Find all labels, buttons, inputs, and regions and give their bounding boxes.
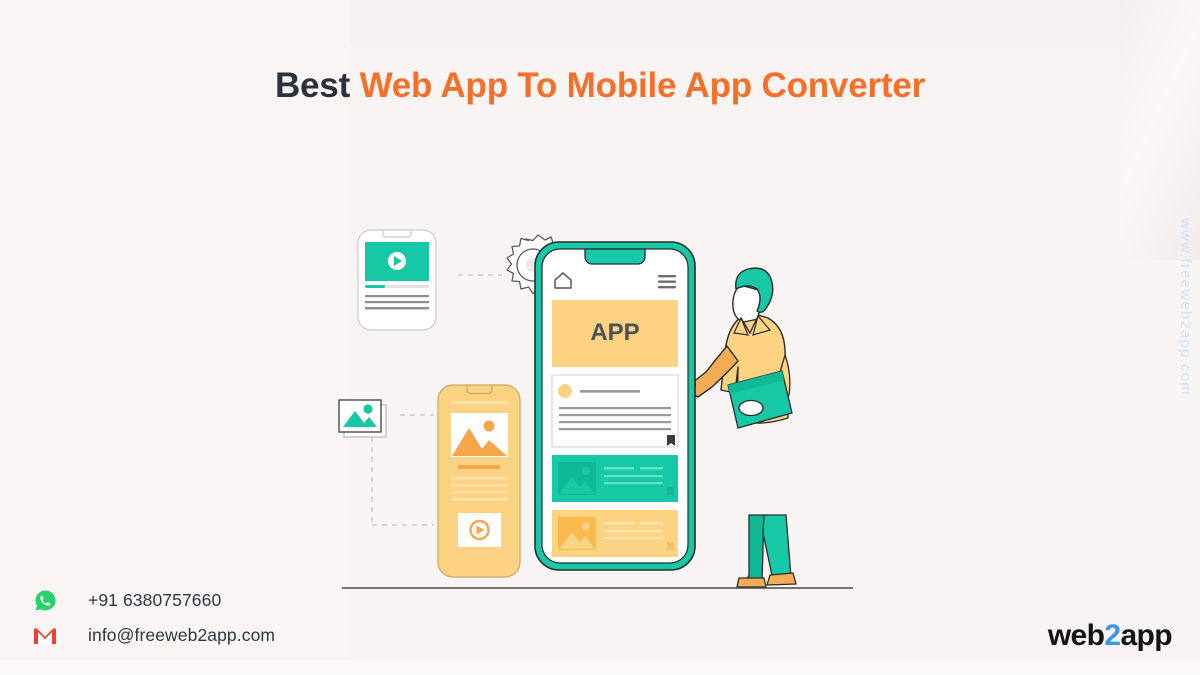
hamburger-menu-icon xyxy=(658,275,676,288)
website-watermark: www.freeweb2app.com xyxy=(1177,218,1194,396)
slide-canvas: Best Web App To Mobile App Converter www… xyxy=(0,0,1200,675)
contact-row-whatsapp[interactable]: +91 6380757660 xyxy=(32,583,275,618)
contact-row-email[interactable]: info@freeweb2app.com xyxy=(32,618,275,653)
page-title-lead: Best xyxy=(275,66,350,105)
background-panel-bottom xyxy=(0,660,1200,675)
page-title: Best Web App To Mobile App Converter xyxy=(0,66,1200,106)
hero-illustration: APP xyxy=(330,215,875,600)
video-preview-device xyxy=(358,230,436,330)
progress-fill xyxy=(365,285,385,288)
email-address: info@freeweb2app.com xyxy=(88,625,275,646)
logo-part-web: web xyxy=(1048,619,1105,652)
avatar xyxy=(558,384,572,398)
yellow-phone-mockup xyxy=(438,385,520,577)
logo-part-app: app xyxy=(1120,619,1172,652)
app-banner-label: APP xyxy=(590,319,639,346)
brand-logo[interactable]: web2app xyxy=(1048,619,1172,653)
image-stack-icon xyxy=(339,400,386,437)
gmail-icon xyxy=(32,626,66,646)
article-card xyxy=(552,375,678,447)
page-title-highlight: Web App To Mobile App Converter xyxy=(360,66,925,105)
logo-part-two: 2 xyxy=(1104,619,1120,652)
whatsapp-number: +91 6380757660 xyxy=(88,590,221,611)
main-phone-mockup: APP xyxy=(535,242,695,570)
contact-block: +91 6380757660 info@freeweb2app.com xyxy=(32,583,275,653)
whatsapp-icon xyxy=(32,588,66,614)
